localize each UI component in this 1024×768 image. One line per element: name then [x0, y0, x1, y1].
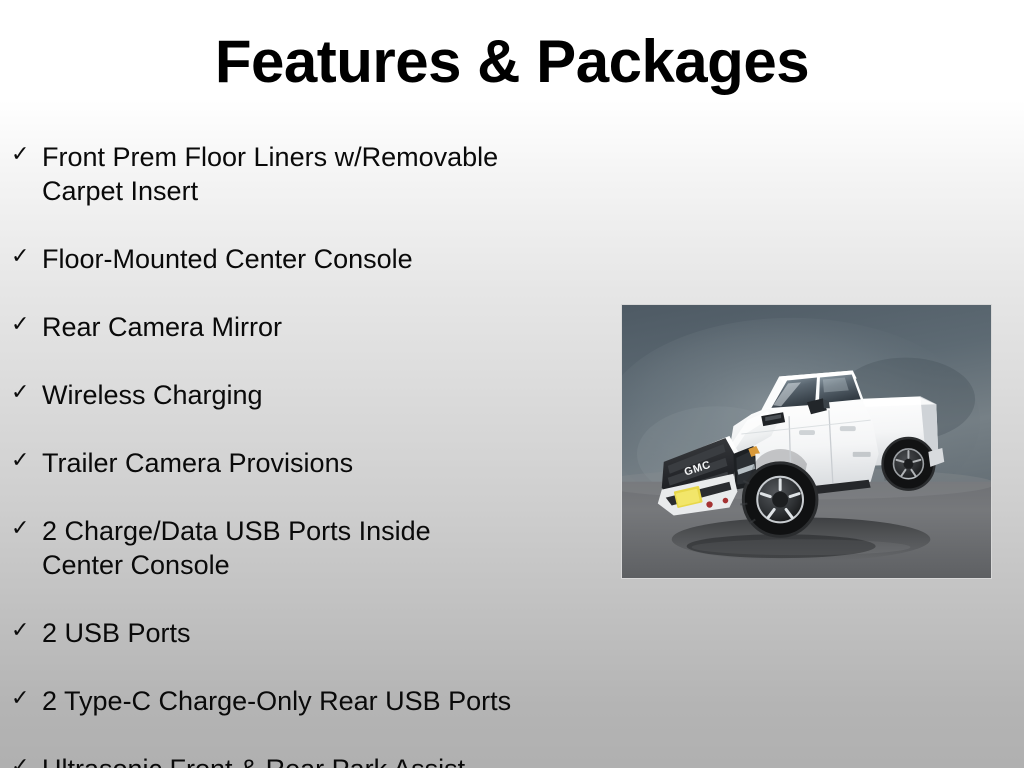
- check-icon: ✓: [11, 243, 35, 271]
- list-item-label: Rear Camera Mirror: [42, 310, 600, 344]
- page-title: Features & Packages: [0, 28, 1024, 96]
- list-item: ✓ Front Prem Floor Liners w/Removable Ca…: [0, 140, 600, 208]
- vehicle-photo: GMC: [621, 304, 992, 579]
- list-item: ✓ Floor-Mounted Center Console: [0, 242, 600, 276]
- truck-illustration: GMC: [622, 305, 991, 578]
- list-item: ✓ Ultrasonic Front & Rear Park Assist: [0, 752, 600, 768]
- list-item: ✓ Wireless Charging: [0, 378, 600, 412]
- list-item-label: Floor-Mounted Center Console: [42, 242, 600, 276]
- list-item: ✓ 2 USB Ports: [0, 616, 600, 650]
- check-icon: ✓: [11, 141, 35, 169]
- list-item-label: Trailer Camera Provisions: [42, 446, 600, 480]
- list-item: ✓ 2 Type-C Charge-Only Rear USB Ports: [0, 684, 600, 718]
- list-item-label: Ultrasonic Front & Rear Park Assist: [42, 752, 600, 768]
- list-item: ✓ Rear Camera Mirror: [0, 310, 600, 344]
- list-item-label: 2 Charge/Data USB Ports Inside Center Co…: [42, 514, 600, 582]
- list-item-label: Front Prem Floor Liners w/Removable Carp…: [42, 140, 600, 208]
- check-icon: ✓: [11, 753, 35, 768]
- check-icon: ✓: [11, 685, 35, 713]
- check-icon: ✓: [11, 379, 35, 407]
- list-item-label: Wireless Charging: [42, 378, 600, 412]
- check-icon: ✓: [11, 617, 35, 645]
- check-icon: ✓: [11, 515, 35, 543]
- check-icon: ✓: [11, 311, 35, 339]
- check-icon: ✓: [11, 447, 35, 475]
- list-item-label: 2 USB Ports: [42, 616, 600, 650]
- list-item-label: 2 Type-C Charge-Only Rear USB Ports: [42, 684, 600, 718]
- list-item: ✓ Trailer Camera Provisions: [0, 446, 600, 480]
- list-item: ✓ 2 Charge/Data USB Ports Inside Center …: [0, 514, 600, 582]
- feature-list: ✓ Front Prem Floor Liners w/Removable Ca…: [0, 140, 600, 768]
